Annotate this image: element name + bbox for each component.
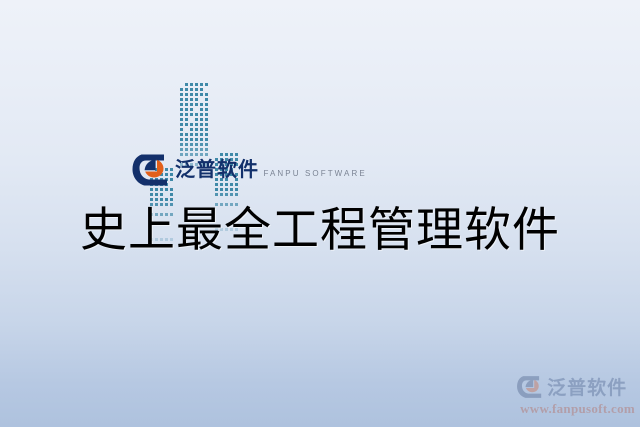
watermark: 泛普软件 www.fanpusoft.com [516,373,635,417]
page-title: 史上最全工程管理软件 [0,203,640,259]
watermark-name-cn: 泛普软件 [547,373,627,400]
fanpu-logo-text: 泛普软件 FANPU SOFTWARE [175,160,367,180]
watermark-url: www.fanpusoft.com [520,401,635,417]
promo-slide: 泛普软件 FANPU SOFTWARE 史上最全工程管理软件 泛普软件 www.… [0,0,640,427]
pixel-city-skyline-icon [150,78,250,162]
logo-name-en: FANPU SOFTWARE [263,169,366,178]
fanpu-logo: 泛普软件 FANPU SOFTWARE [131,153,367,187]
fanpu-emblem-icon [131,153,171,187]
fanpu-emblem-watermark-icon [516,375,544,399]
logo-name-cn: 泛普软件 [175,159,259,181]
watermark-brand-row: 泛普软件 [516,373,627,400]
